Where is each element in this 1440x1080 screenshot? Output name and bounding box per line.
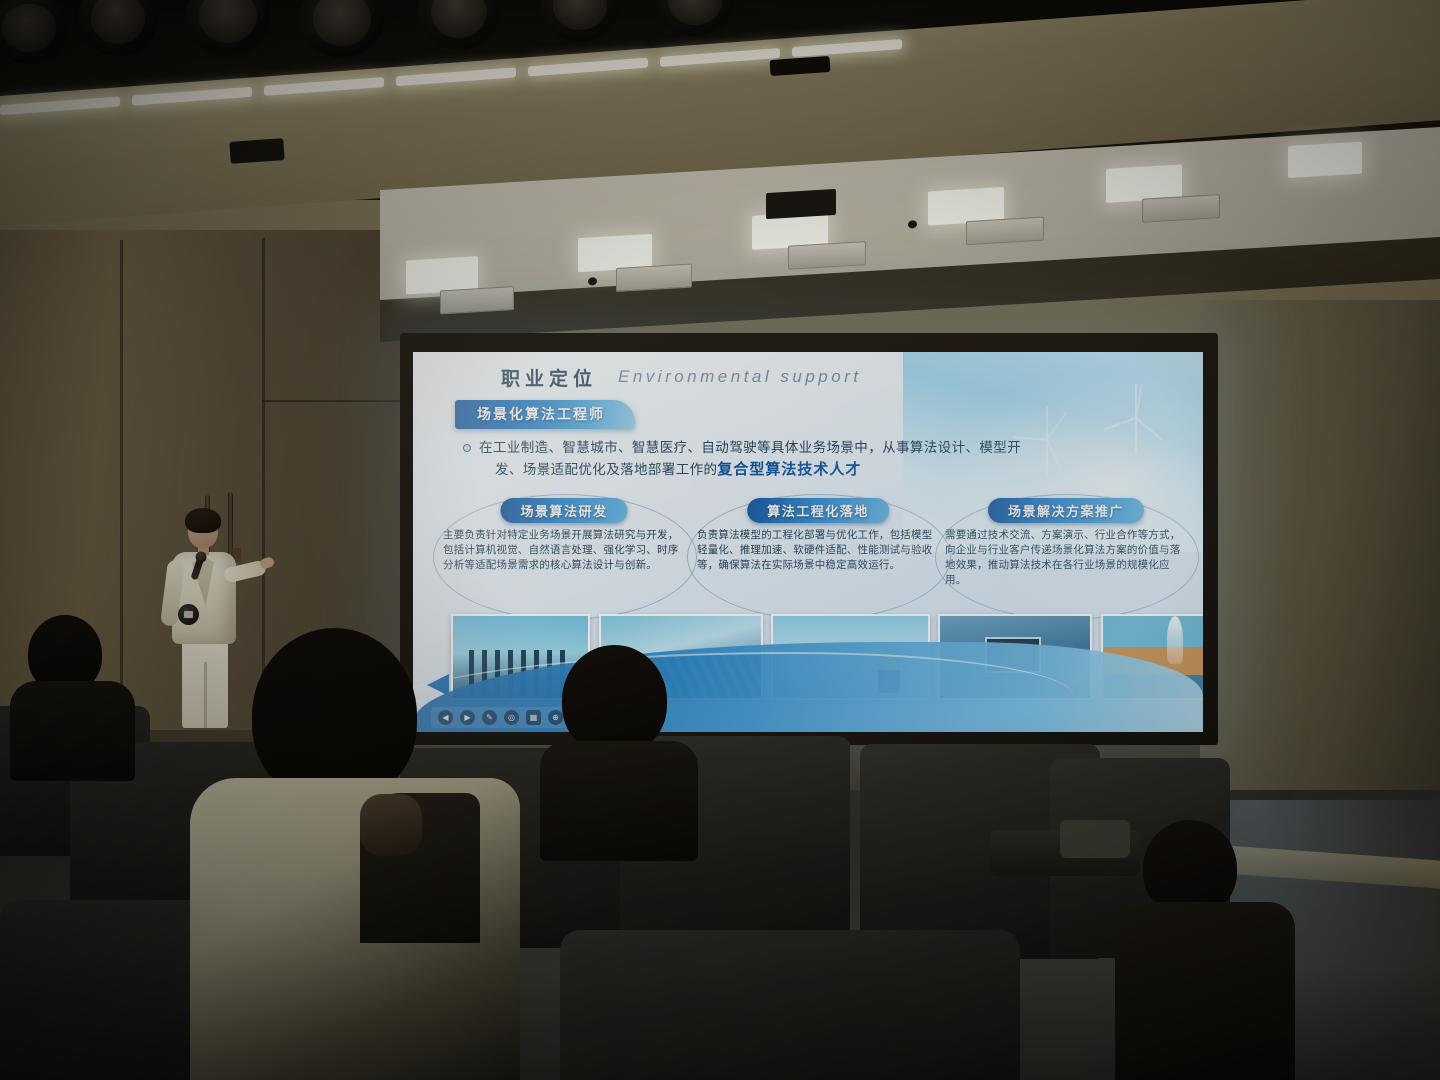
presenter-leg-split — [204, 662, 207, 728]
audience-member — [540, 645, 690, 815]
slide-grid-icon[interactable]: ▦ — [526, 710, 541, 725]
presenter-hair — [185, 508, 221, 533]
role-card-3: 场景解决方案推广 需要通过技术交流、方案演示、行业合作等方式，向企业与行业客户传… — [941, 502, 1191, 610]
bullet-line-2-prefix: 发、场景适配优化及落地部署工作的 — [495, 462, 717, 477]
slide-bullet: 在工业制造、智慧城市、智慧医疗、自动驾驶等具体业务场景中，从事算法设计、模型开 … — [463, 437, 1143, 481]
door-seam — [262, 400, 412, 402]
presenter-badge — [178, 604, 199, 625]
audience-member — [10, 615, 130, 775]
slide-title-cn: 职业定位 — [501, 364, 597, 391]
slide-role-banner: 场景化算法工程师 — [455, 400, 635, 429]
audience-member — [1115, 820, 1285, 1080]
role-card-1: 场景算法研发 主要负责针对特定业务场景开展算法研究与开发，包括计算机视觉、自然语… — [439, 502, 689, 610]
role-card-2: 算法工程化落地 负责算法模型的工程化部署与优化工作，包括模型轻量化、推理加速、软… — [693, 502, 943, 610]
bullet-line-2: 发、场景适配优化及落地部署工作的复合型算法技术人才 — [495, 459, 1143, 481]
bullet-emphasis: 复合型算法技术人才 — [717, 461, 861, 478]
bullet-dot-icon — [463, 444, 471, 452]
slide-title-en: Environmental support — [618, 367, 862, 387]
card-title-pill: 场景解决方案推广 — [988, 498, 1144, 523]
bullet-line-1: 在工业制造、智慧城市、智慧医疗、自动驾驶等具体业务场景中，从事算法设计、模型开 — [479, 437, 1143, 459]
ceiling-projector-mount — [229, 138, 284, 164]
laser-pointer-icon[interactable]: ◎ — [504, 710, 519, 725]
audience-member-foreground — [210, 628, 500, 1080]
card-body-text: 需要通过技术交流、方案演示、行业合作等方式，向企业与行业客户传递场景化算法方案的… — [945, 528, 1189, 588]
auditorium-photo: 职业定位 Environmental support 场景化算法工程师 在工业制… — [0, 0, 1440, 1080]
card-body-text: 主要负责针对特定业务场景开展算法研究与开发，包括计算机视觉、自然语言处理、强化学… — [443, 528, 687, 573]
led-presentation-screen[interactable]: 职业定位 Environmental support 场景化算法工程师 在工业制… — [413, 352, 1203, 732]
seat — [560, 930, 1020, 1080]
card-title-pill: 算法工程化落地 — [747, 498, 889, 523]
audience-hand — [360, 794, 422, 856]
card-body-text: 负责算法模型的工程化部署与优化工作，包括模型轻量化、推理加速、软硬件适配、性能测… — [697, 528, 941, 573]
right-wall — [1200, 300, 1440, 820]
card-title-pill: 场景算法研发 — [500, 498, 627, 523]
